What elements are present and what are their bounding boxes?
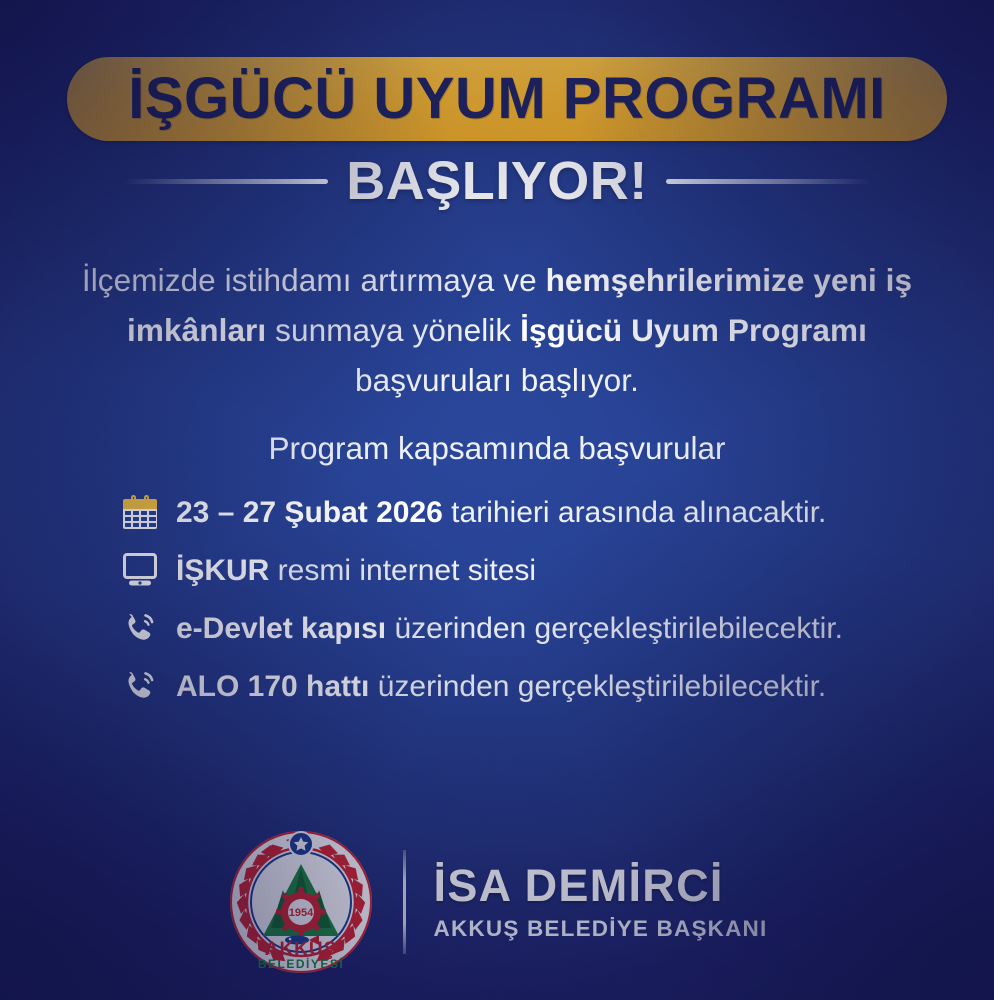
mayor-identity: İSA DEMİRCİ AKKUŞ BELEDİYE BAŞKANI	[434, 862, 768, 943]
list-item-highlight: 23 – 27 Şubat 2026	[176, 496, 443, 529]
list-item-rest: üzerinden gerçekleştirilebilecektir.	[369, 670, 826, 703]
lead-line: Program kapsamında başvurular	[62, 425, 932, 471]
paragraph-part: başvuruları başlıyor.	[355, 362, 639, 398]
list-item: e-Devlet kapısı üzerinden gerçekleştiril…	[120, 599, 940, 657]
list-item: ALO 170 hattı üzerinden gerçekleştirileb…	[120, 657, 940, 715]
subtitle: BAŞLIYOR!	[346, 154, 648, 208]
list-item-highlight: İŞKUR	[176, 554, 269, 587]
paragraph-part: İlçemizde istihdamı artırmaya ve	[82, 262, 546, 298]
akkus-municipality-logo: 1954 AKKUŞ BELEDİYESİ	[227, 828, 375, 976]
title-banner-pill: İŞGÜCÜ UYUM PROGRAMI	[67, 57, 947, 141]
decorative-rule-right	[666, 179, 871, 184]
list-item-rest: üzerinden gerçekleştirilebilecektir.	[386, 612, 843, 645]
decorative-rule-left	[123, 179, 328, 184]
info-list: 23 – 27 Şubat 2026 tarihieri arasında al…	[120, 483, 940, 715]
list-item-rest: tarihieri arasında alınacaktir.	[443, 496, 827, 529]
paragraph-part-bold: İşgücü Uyum Programı	[520, 312, 867, 348]
list-item-text: 23 – 27 Şubat 2026 tarihieri arasında al…	[176, 496, 826, 529]
logo-bottom-text: BELEDİYESİ	[257, 956, 343, 971]
list-item-rest: resmi internet sitesi	[269, 554, 536, 587]
title-banner: İŞGÜCÜ UYUM PROGRAMI	[67, 57, 947, 141]
list-item-highlight: e-Devlet kapısı	[176, 612, 386, 645]
phone-call-icon	[120, 608, 160, 648]
mayor-name: İSA DEMİRCİ	[434, 862, 768, 911]
paragraph-part: sunmaya yönelik	[266, 312, 520, 348]
footer-divider	[403, 850, 406, 954]
list-item-text: ALO 170 hattı üzerinden gerçekleştirileb…	[176, 670, 826, 703]
logo-year: 1954	[288, 907, 313, 919]
list-item: İŞKUR resmi internet sitesi	[120, 541, 940, 599]
list-item: 23 – 27 Şubat 2026 tarihieri arasında al…	[120, 483, 940, 541]
poster-canvas: İŞGÜCÜ UYUM PROGRAMI BAŞLIYOR! İlçemizde…	[0, 0, 994, 1000]
list-item-highlight: ALO 170 hattı	[176, 670, 369, 703]
calendar-icon	[120, 492, 160, 532]
footer: 1954 AKKUŞ BELEDİYESİ İSA DEMİRCİ AKKUŞ …	[0, 828, 994, 976]
mayor-title: AKKUŞ BELEDİYE BAŞKANI	[434, 916, 768, 942]
monitor-icon	[120, 550, 160, 590]
phone-call-icon	[120, 666, 160, 706]
body-paragraph: İlçemizde istihdamı artırmaya ve hemşehr…	[62, 255, 932, 405]
list-item-text: İŞKUR resmi internet sitesi	[176, 554, 536, 587]
list-item-text: e-Devlet kapısı üzerinden gerçekleştiril…	[176, 612, 843, 645]
page-title: İŞGÜCÜ UYUM PROGRAMI	[128, 70, 886, 128]
subtitle-row: BAŞLIYOR!	[0, 148, 994, 214]
